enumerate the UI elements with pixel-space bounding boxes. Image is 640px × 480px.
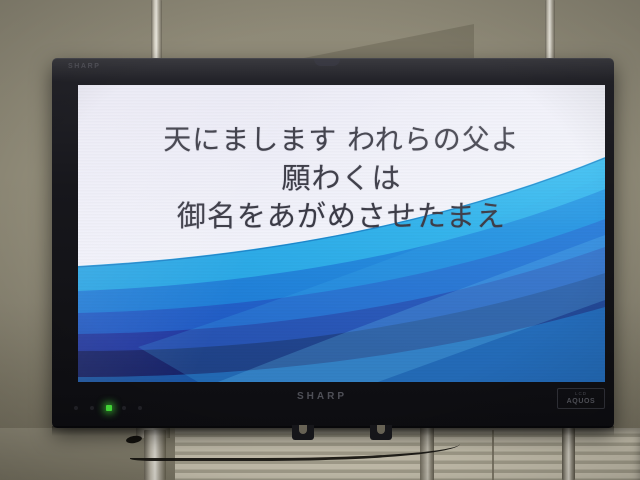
indicator-dot-tertiary-icon [138,406,142,410]
ceiling-mount-pole-left [151,0,162,62]
tv-screen[interactable]: 天にまします われらの父よ 願わくは 御名をあがめさせたまえ [78,85,605,382]
remote-sensor-icon [74,406,78,410]
indicator-dot-icon [90,406,94,410]
aquos-badge-name: AQUOS [567,398,596,405]
photo-scene: SHARP [0,0,640,480]
presentation-slide: 天にまします われらの父よ 願わくは 御名をあがめさせたまえ [78,85,605,382]
aquos-badge-lcd-label: LCD [575,392,587,397]
aquos-badge: LCD AQUOS [557,388,605,409]
tv-drop-shadow [52,426,614,436]
tv-mount-bracket-left [292,425,314,440]
slide-text-block: 天にまします われらの父よ 願わくは 御名をあがめさせたまえ [78,121,605,236]
tv-mount-bracket-right [370,425,392,440]
bezel-sensor [314,59,340,66]
slide-line-2: 願わくは [78,159,605,198]
slide-line-3: 御名をあがめさせたまえ [78,197,605,236]
tv-top-logo: SHARP [68,63,101,70]
television[interactable]: SHARP [52,58,614,428]
slide-line-1: 天にまします われらの父よ [78,121,605,159]
sharp-brand-logo: SHARP [297,391,347,402]
indicator-dot-secondary-icon [122,406,126,410]
blind-cord [492,430,494,480]
power-led-icon [106,405,112,411]
ceiling-mount-pole-right [545,0,555,60]
